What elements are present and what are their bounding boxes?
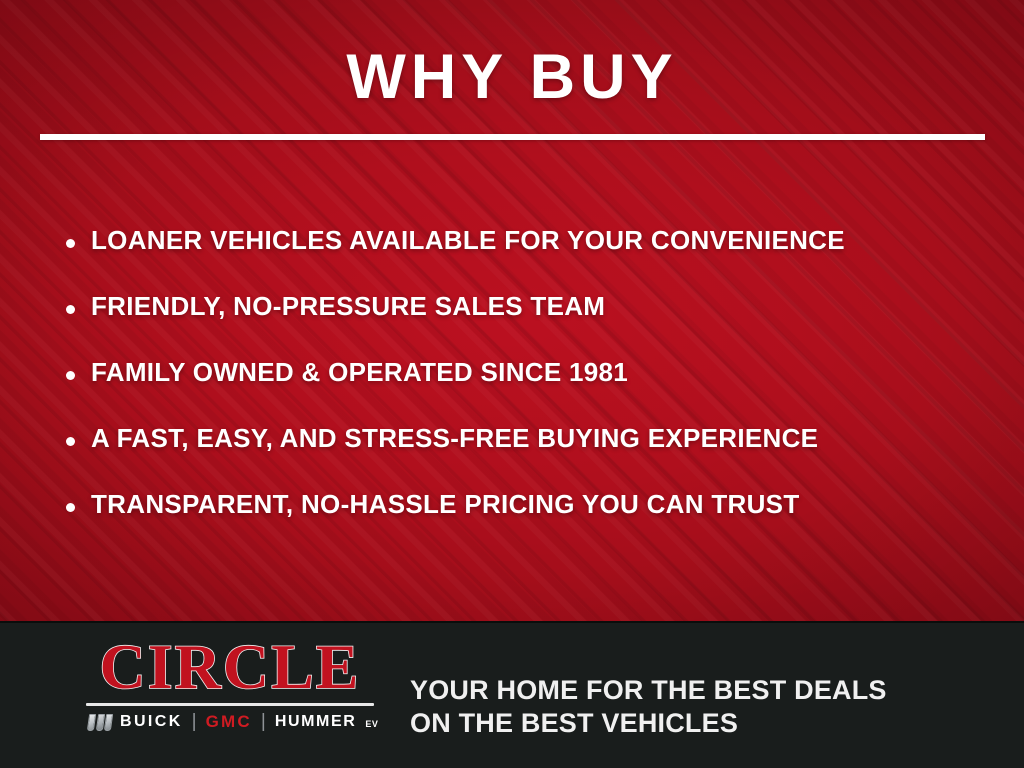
brand-strip: BUICK | GMC | HUMMER EV [84,711,376,733]
hero-panel: WHY BUY LOANER VEHICLES AVAILABLE FOR YO… [0,0,1024,621]
list-item-label: LOANER VEHICLES AVAILABLE FOR YOUR CONVE… [91,226,845,255]
list-item: LOANER VEHICLES AVAILABLE FOR YOUR CONVE… [66,226,984,292]
bullet-dot-icon [66,371,75,380]
list-item: TRANSPARENT, NO-HASSLE PRICING YOU CAN T… [66,490,984,556]
tagline-line-2: ON THE BEST VEHICLES [410,707,887,740]
brand-separator-icon: | [261,711,266,733]
tagline-line-1: YOUR HOME FOR THE BEST DEALS [410,674,887,707]
logo-rule [86,703,374,706]
benefits-list: LOANER VEHICLES AVAILABLE FOR YOUR CONVE… [66,226,984,556]
why-buy-slide: WHY BUY LOANER VEHICLES AVAILABLE FOR YO… [0,0,1024,768]
title-underline-rule [40,134,985,140]
bullet-dot-icon [66,503,75,512]
list-item: FAMILY OWNED & OPERATED SINCE 1981 [66,358,984,424]
brand-separator-icon: | [192,711,197,733]
dealer-logo: CIRCLE BUICK | GMC | HUMMER EV [84,635,376,733]
list-item-label: FAMILY OWNED & OPERATED SINCE 1981 [91,358,628,387]
list-item-label: FRIENDLY, NO-PRESSURE SALES TEAM [91,292,605,321]
list-item-label: A FAST, EASY, AND STRESS-FREE BUYING EXP… [91,424,818,453]
buick-tri-shield-icon [87,714,113,731]
page-title: WHY BUY [0,46,1024,109]
brand-label-buick: BUICK [120,713,183,731]
brand-label-gmc: GMC [206,712,252,732]
bullet-dot-icon [66,437,75,446]
list-item-label: TRANSPARENT, NO-HASSLE PRICING YOU CAN T… [91,490,800,519]
footer-divider [0,621,1024,623]
bullet-dot-icon [66,305,75,314]
footer-tagline: YOUR HOME FOR THE BEST DEALS ON THE BEST… [410,674,887,739]
brand-label-hummer: HUMMER [275,713,357,731]
dealer-wordmark: CIRCLE [84,635,376,699]
list-item: FRIENDLY, NO-PRESSURE SALES TEAM [66,292,984,358]
bullet-dot-icon [66,239,75,248]
footer-bar: CIRCLE BUICK | GMC | HUMMER EV YOUR HOME… [0,621,1024,768]
brand-label-ev: EV [365,719,378,729]
list-item: A FAST, EASY, AND STRESS-FREE BUYING EXP… [66,424,984,490]
